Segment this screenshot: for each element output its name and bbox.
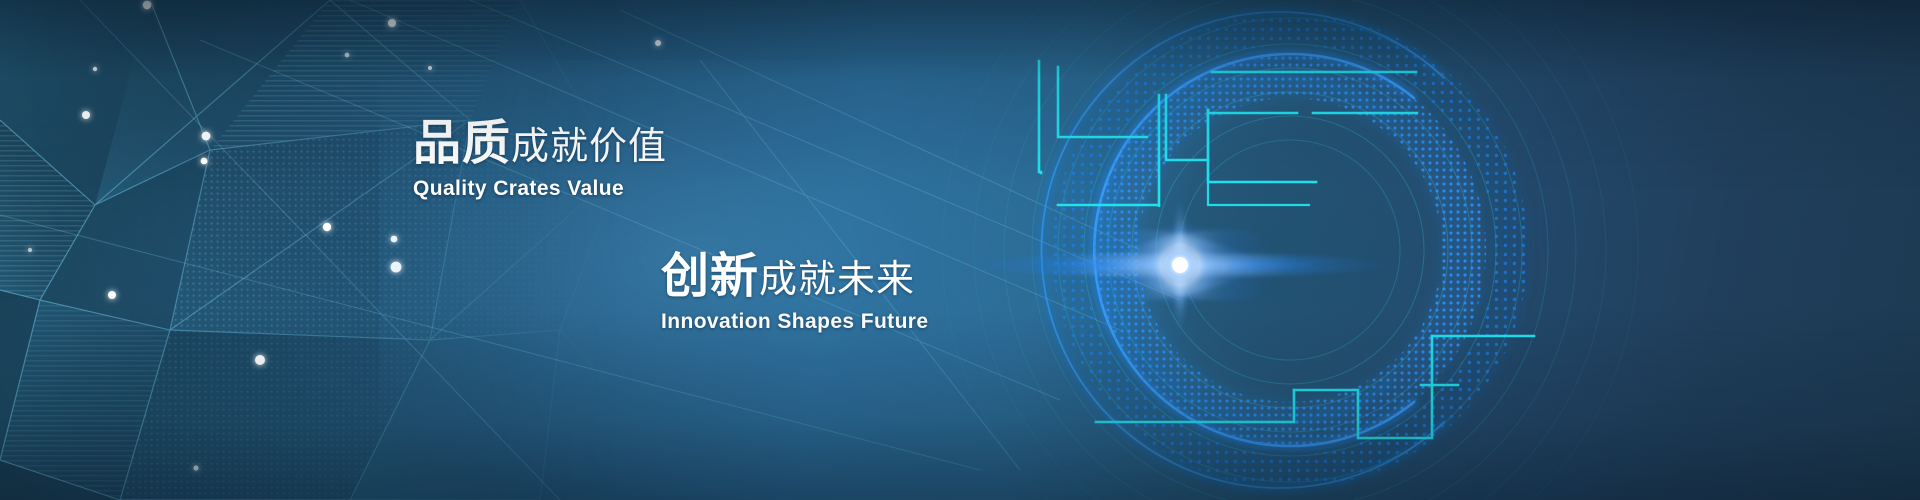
- hero-banner: 品质成就价值 Quality Crates Value 创新成就未来 Innov…: [0, 0, 1920, 500]
- headline-block-secondary: 创新成就未来 Innovation Shapes Future: [661, 253, 928, 334]
- headline-cn-2: 创新成就未来: [661, 253, 928, 301]
- headline-block-primary: 品质成就价值 Quality Crates Value: [413, 120, 667, 201]
- headline-en-1: Quality Crates Value: [413, 177, 667, 201]
- headline-en-2: Innovation Shapes Future: [661, 310, 928, 334]
- headline-cn-2-light: 成就未来: [759, 259, 915, 301]
- headline-cn-1: 品质成就价值: [413, 120, 667, 168]
- headline-cn-2-strong: 创新: [661, 250, 759, 303]
- tech-ring-graphic: [0, 0, 1920, 500]
- headline-cn-1-strong: 品质: [413, 117, 511, 170]
- headline-cn-1-light: 成就价值: [511, 126, 667, 168]
